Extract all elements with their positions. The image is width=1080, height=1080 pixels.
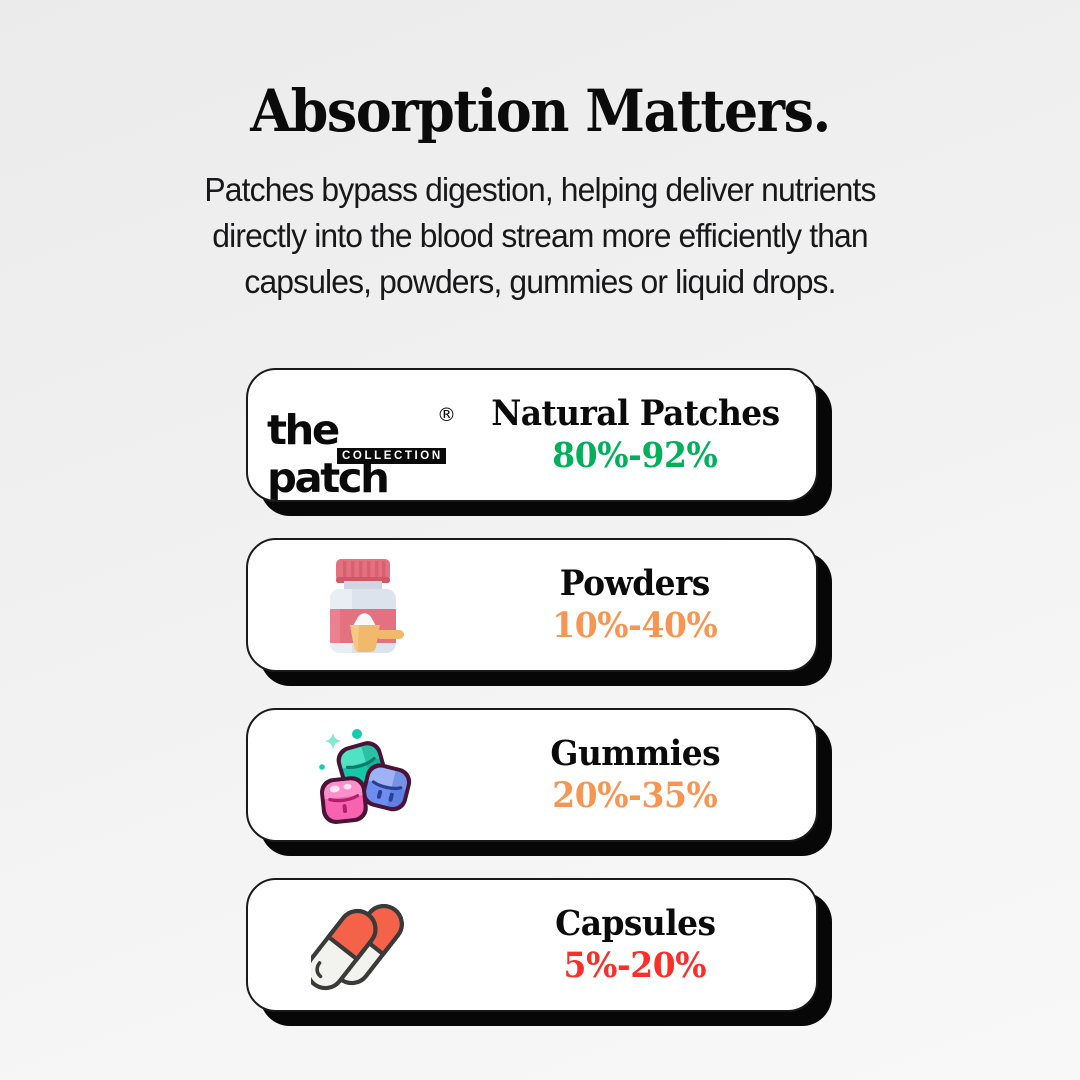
- card-gummies[interactable]: Gummies 20%-35%: [246, 708, 818, 842]
- page-subtitle: Patches bypass digestion, helping delive…: [160, 168, 920, 306]
- card-title: Capsules: [555, 903, 715, 945]
- card-title: Natural Patches: [491, 393, 779, 435]
- card-absorption-range: 5%-20%: [564, 945, 707, 987]
- card-title: Powders: [560, 563, 710, 605]
- brand-collection-label: COLLECTION: [337, 448, 446, 464]
- card-text-block: Natural Patches 80%-92%: [478, 393, 816, 477]
- card-text-block: Gummies 20%-35%: [478, 733, 816, 817]
- card-powders[interactable]: Powders 10%-40%: [246, 538, 818, 672]
- subtitle-line-2: directly into the blood stream more effi…: [160, 214, 920, 260]
- card-surface[interactable]: the patch ® COLLECTION Natural Patches 8…: [246, 368, 818, 502]
- card-natural-patches[interactable]: the patch ® COLLECTION Natural Patches 8…: [246, 368, 818, 502]
- card-surface[interactable]: Powders 10%-40%: [246, 538, 818, 672]
- card-absorption-range: 10%-40%: [552, 605, 717, 647]
- infographic-page: Absorption Matters. Patches bypass diges…: [0, 0, 1080, 1080]
- registered-trademark-icon: ®: [437, 404, 456, 426]
- the-patch-collection-logo: the patch ® COLLECTION: [265, 404, 461, 466]
- header: Absorption Matters. Patches bypass diges…: [0, 82, 1080, 306]
- card-absorption-range: 20%-35%: [552, 775, 717, 817]
- card-text-block: Powders 10%-40%: [478, 563, 816, 647]
- subtitle-line-1: Patches bypass digestion, helping delive…: [160, 168, 920, 214]
- card-absorption-range: 80%-92%: [552, 435, 717, 477]
- card-icon-slot: [248, 538, 478, 672]
- card-text-block: Capsules 5%-20%: [478, 903, 816, 987]
- card-surface[interactable]: Gummies 20%-35%: [246, 708, 818, 842]
- card-title: Gummies: [550, 733, 720, 775]
- absorption-card-list: the patch ® COLLECTION Natural Patches 8…: [246, 368, 846, 1048]
- card-capsules[interactable]: Capsules 5%-20%: [246, 878, 818, 1012]
- capsules-icon: [311, 893, 415, 997]
- powder-jar-icon: [314, 553, 412, 657]
- subtitle-line-3: capsules, powders, gummies or liquid dro…: [160, 260, 920, 306]
- card-surface[interactable]: Capsules 5%-20%: [246, 878, 818, 1012]
- card-icon-slot: [248, 708, 478, 842]
- page-title: Absorption Matters.: [38, 82, 1042, 140]
- card-icon-slot: the patch ® COLLECTION: [248, 368, 478, 502]
- card-icon-slot: [248, 878, 478, 1012]
- gummies-icon: [307, 719, 419, 831]
